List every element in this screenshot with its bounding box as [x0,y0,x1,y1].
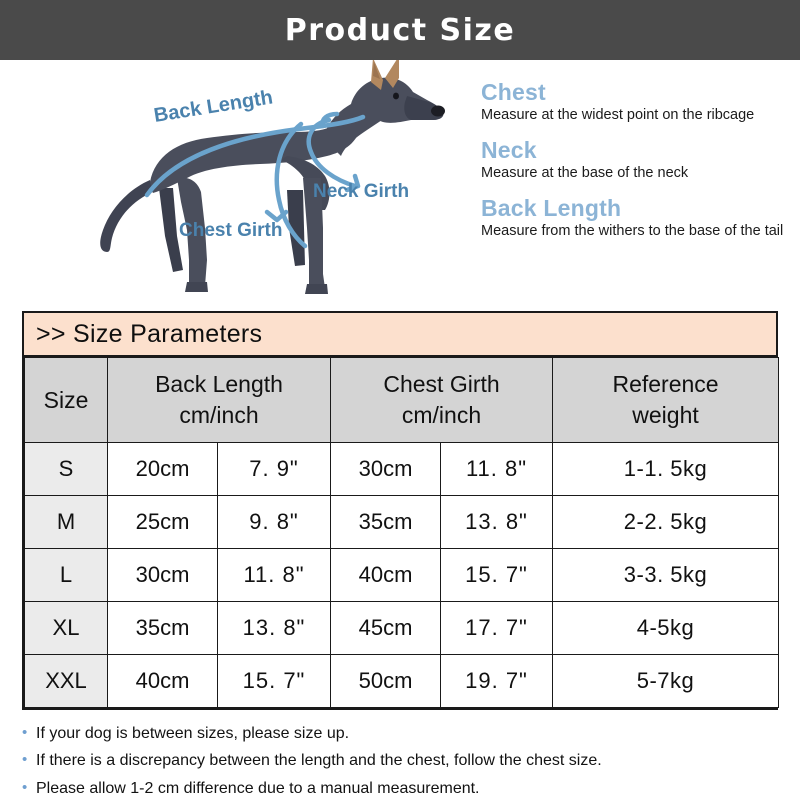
th-chest-girth-unit: cm/inch [331,400,552,431]
cell-back-length-cm: 20cm [108,443,218,496]
info-block-chest: Chest Measure at the widest point on the… [481,80,791,125]
th-reference-title: Reference [553,369,778,400]
footnote-text: If your dog is between sizes, please siz… [36,722,349,746]
size-parameters-banner-label: >> Size Parameters [36,320,262,349]
info-block-back-length: Back Length Measure from the withers to … [481,196,791,241]
size-parameters-table-container: >> Size Parameters Size Back Length cm/i… [22,311,778,710]
cell-chest-girth-cm: 30cm [331,443,441,496]
cell-chest-girth-inch: 17. 7" [441,602,553,655]
dog-near-front-paw [305,284,328,294]
table-row: XL 35cm 13. 8" 45cm 17. 7" 4-5kg [25,602,779,655]
footnote-text: If there is a discrepancy between the le… [36,749,602,773]
cell-back-length-cm: 25cm [108,496,218,549]
footnotes-list: • If your dog is between sizes, please s… [22,722,782,804]
cell-size: XXL [25,655,108,708]
size-parameters-banner: >> Size Parameters [24,313,776,357]
cell-chest-girth-cm: 45cm [331,602,441,655]
table-row: S 20cm 7. 9" 30cm 11. 8" 1-1. 5kg [25,443,779,496]
cell-back-length-cm: 30cm [108,549,218,602]
th-back-length: Back Length cm/inch [108,358,331,443]
bullet-icon: • [22,722,36,745]
cell-chest-girth-inch: 11. 8" [441,443,553,496]
size-parameters-table: Size Back Length cm/inch Chest Girth cm/… [24,357,779,708]
table-row: M 25cm 9. 8" 35cm 13. 8" 2-2. 5kg [25,496,779,549]
th-size: Size [25,358,108,443]
th-chest-girth-title: Chest Girth [331,369,552,400]
cell-back-length-inch: 7. 9" [218,443,331,496]
chest-girth-label: Chest Girth [179,220,282,241]
th-chest-girth: Chest Girth cm/inch [331,358,553,443]
info-desc-back-length: Measure from the withers to the base of … [481,223,791,241]
dog-near-hind-paw [185,282,208,292]
cell-back-length-cm: 40cm [108,655,218,708]
info-block-neck: Neck Measure at the base of the neck [481,138,791,183]
measurement-info-panel: Chest Measure at the widest point on the… [481,80,791,254]
illustration-area: Back Length Neck Girth Chest Girth Chest… [0,60,800,305]
cell-size: S [25,443,108,496]
th-reference-weight: Reference weight [553,358,779,443]
th-reference-unit: weight [553,400,778,431]
info-heading-chest: Chest [481,80,791,105]
list-item: • If there is a discrepancy between the … [22,749,782,773]
neck-girth-label: Neck Girth [313,181,409,202]
cell-reference-weight: 1-1. 5kg [553,443,779,496]
dog-tail-shape [100,180,153,252]
info-heading-back-length: Back Length [481,196,791,221]
info-desc-chest: Measure at the widest point on the ribca… [481,107,791,125]
back-length-label: Back Length [152,86,274,127]
cell-chest-girth-cm: 40cm [331,549,441,602]
footnote-text: Please allow 1-2 cm difference due to a … [36,777,480,801]
cell-back-length-inch: 13. 8" [218,602,331,655]
page-title: Product Size [285,13,516,48]
th-back-length-unit: cm/inch [108,400,330,431]
cell-back-length-inch: 9. 8" [218,496,331,549]
cell-reference-weight: 3-3. 5kg [553,549,779,602]
list-item: • If your dog is between sizes, please s… [22,722,782,746]
page-header-bar: Product Size [0,0,800,60]
cell-reference-weight: 4-5kg [553,602,779,655]
cell-chest-girth-cm: 35cm [331,496,441,549]
cell-back-length-inch: 11. 8" [218,549,331,602]
cell-chest-girth-inch: 15. 7" [441,549,553,602]
cell-chest-girth-cm: 50cm [331,655,441,708]
table-row: L 30cm 11. 8" 40cm 15. 7" 3-3. 5kg [25,549,779,602]
cell-chest-girth-inch: 19. 7" [441,655,553,708]
cell-reference-weight: 2-2. 5kg [553,496,779,549]
info-desc-neck: Measure at the base of the neck [481,165,791,183]
table-row: XXL 40cm 15. 7" 50cm 19. 7" 5-7kg [25,655,779,708]
cell-back-length-cm: 35cm [108,602,218,655]
dog-nose-icon [431,106,445,117]
cell-size: L [25,549,108,602]
cell-size: M [25,496,108,549]
bullet-icon: • [22,777,36,800]
cell-reference-weight: 5-7kg [553,655,779,708]
cell-back-length-inch: 15. 7" [218,655,331,708]
table-header-row: Size Back Length cm/inch Chest Girth cm/… [25,358,779,443]
th-back-length-title: Back Length [108,369,330,400]
dog-measurement-illustration: Back Length Neck Girth Chest Girth [55,60,485,305]
dog-eye-icon [393,93,399,100]
cell-chest-girth-inch: 13. 8" [441,496,553,549]
cell-size: XL [25,602,108,655]
info-heading-neck: Neck [481,138,791,163]
list-item: • Please allow 1-2 cm difference due to … [22,777,782,801]
bullet-icon: • [22,749,36,772]
